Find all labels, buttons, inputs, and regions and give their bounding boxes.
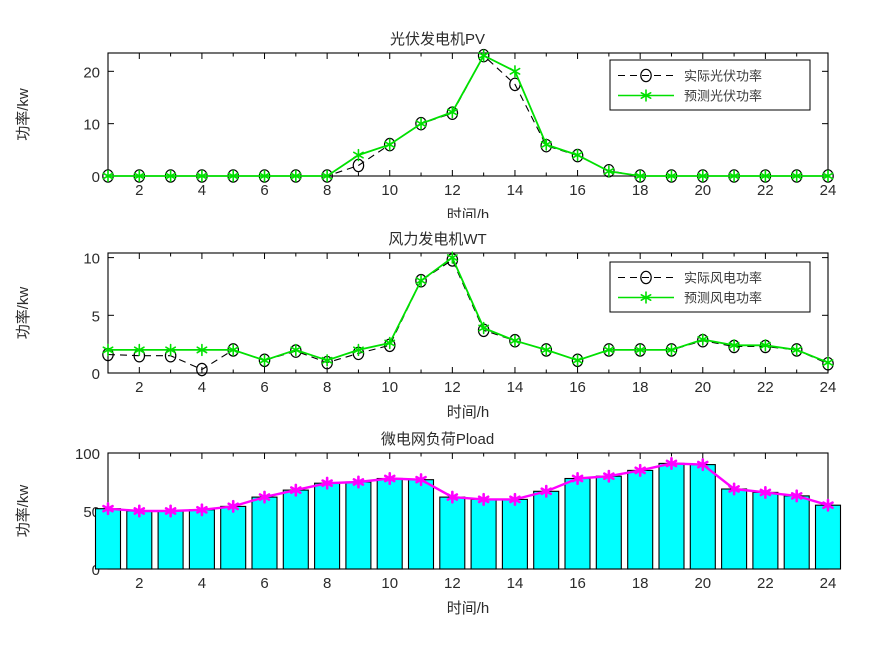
load-ylabel: 功率/kw bbox=[15, 485, 32, 538]
load-bar bbox=[377, 479, 402, 570]
wt-legend-actual-label: 实际风电功率 bbox=[684, 271, 762, 286]
x-tick-label: 10 bbox=[381, 379, 398, 396]
load-bar bbox=[409, 480, 434, 569]
load-bar bbox=[96, 509, 121, 569]
chart-panel-wt: 风力发电机WT 246810121416182022240510时间/h功率/k… bbox=[0, 218, 875, 423]
x-tick-label: 20 bbox=[694, 182, 711, 199]
x-tick-label: 24 bbox=[820, 182, 837, 199]
y-tick-label: 20 bbox=[83, 64, 100, 81]
load-bar bbox=[628, 470, 653, 569]
marker-asterisk bbox=[385, 139, 394, 150]
load-bar bbox=[784, 496, 809, 569]
x-tick-label: 2 bbox=[135, 575, 143, 592]
pv-xlabel: 时间/h bbox=[447, 207, 490, 218]
x-tick-label: 14 bbox=[507, 379, 524, 396]
x-tick-label: 4 bbox=[198, 575, 206, 592]
marker-asterisk bbox=[573, 355, 582, 366]
load-bar bbox=[471, 499, 496, 569]
x-tick-label: 6 bbox=[260, 379, 268, 396]
wt-ylabel: 功率/kw bbox=[15, 287, 32, 340]
x-tick-label: 12 bbox=[444, 182, 461, 199]
x-tick-label: 24 bbox=[820, 575, 837, 592]
marker-asterisk bbox=[260, 355, 269, 366]
load-bar bbox=[346, 482, 371, 569]
x-tick-label: 4 bbox=[198, 182, 206, 199]
load-axis-box bbox=[108, 453, 828, 569]
load-xlabel: 时间/h bbox=[447, 600, 490, 617]
x-tick-label: 18 bbox=[632, 379, 649, 396]
load-bar bbox=[440, 497, 465, 569]
load-bar bbox=[189, 510, 214, 569]
x-tick-label: 22 bbox=[757, 379, 774, 396]
load-bar bbox=[596, 476, 621, 569]
y-tick-label: 10 bbox=[83, 117, 100, 134]
x-tick-label: 14 bbox=[507, 182, 524, 199]
pv-ylabel: 功率/kw bbox=[15, 88, 32, 141]
y-tick-label: 0 bbox=[92, 366, 100, 383]
x-tick-label: 16 bbox=[569, 379, 586, 396]
x-tick-label: 6 bbox=[260, 575, 268, 592]
pv-legend[interactable]: 实际光伏功率预测光伏功率 bbox=[610, 60, 810, 110]
x-tick-label: 20 bbox=[694, 379, 711, 396]
x-tick-label: 22 bbox=[757, 575, 774, 592]
marker-asterisk bbox=[448, 252, 457, 263]
x-tick-label: 12 bbox=[444, 575, 461, 592]
x-tick-label: 18 bbox=[632, 575, 649, 592]
x-tick-label: 22 bbox=[757, 182, 774, 199]
y-tick-label: 100 bbox=[75, 446, 100, 463]
marker-asterisk bbox=[510, 66, 519, 77]
y-tick-label: 5 bbox=[92, 308, 100, 325]
marker-asterisk bbox=[416, 118, 425, 129]
x-tick-label: 14 bbox=[507, 575, 524, 592]
load-bar bbox=[283, 490, 308, 569]
marker-asterisk bbox=[542, 345, 551, 356]
marker-asterisk bbox=[416, 275, 425, 286]
chart-panel-pv: 光伏发电机PV 2468101214161820222401020时间/h功率/… bbox=[0, 0, 875, 218]
x-tick-label: 2 bbox=[135, 182, 143, 199]
x-tick-label: 20 bbox=[694, 575, 711, 592]
load-bars bbox=[96, 463, 841, 569]
x-tick-label: 2 bbox=[135, 379, 143, 396]
x-tick-label: 10 bbox=[381, 575, 398, 592]
marker-asterisk bbox=[354, 150, 363, 161]
pv-legend-actual-label: 实际光伏功率 bbox=[684, 69, 762, 84]
x-tick-label: 10 bbox=[381, 182, 398, 199]
load-bar bbox=[816, 505, 841, 569]
load-bar bbox=[722, 489, 747, 569]
load-bar bbox=[252, 497, 277, 569]
x-tick-label: 8 bbox=[323, 379, 331, 396]
load-bar bbox=[158, 511, 183, 569]
wt-legend[interactable]: 实际风电功率预测风电功率 bbox=[610, 262, 810, 312]
wt-xlabel: 时间/h bbox=[447, 404, 490, 421]
wt-plot-area: 246810121416182022240510时间/h功率/kw实际风电功率预… bbox=[0, 218, 875, 423]
x-tick-label: 4 bbox=[198, 379, 206, 396]
marker-asterisk bbox=[510, 335, 519, 346]
load-bar bbox=[690, 465, 715, 569]
y-tick-label: 0 bbox=[92, 169, 100, 186]
x-tick-label: 16 bbox=[569, 182, 586, 199]
chart-panel-load: 微电网负荷Pload 24681012141618202224050100时间/… bbox=[0, 423, 875, 656]
load-bar bbox=[127, 511, 152, 569]
load-bar bbox=[565, 479, 590, 570]
marker-asterisk bbox=[479, 323, 488, 334]
x-tick-label: 8 bbox=[323, 575, 331, 592]
x-tick-label: 16 bbox=[569, 575, 586, 592]
load-plot-area: 24681012141618202224050100时间/h功率/kw bbox=[0, 423, 875, 656]
x-tick-label: 8 bbox=[323, 182, 331, 199]
marker-asterisk bbox=[322, 355, 331, 366]
load-bar bbox=[659, 463, 684, 569]
load-bar bbox=[534, 491, 559, 569]
x-tick-label: 18 bbox=[632, 182, 649, 199]
marker-asterisk bbox=[479, 50, 488, 61]
pv-legend-forecast-label: 预测光伏功率 bbox=[684, 89, 762, 104]
pv-plot-area: 2468101214161820222401020时间/h功率/kw实际光伏功率… bbox=[0, 0, 875, 218]
wt-legend-forecast-label: 预测风电功率 bbox=[684, 291, 762, 306]
x-tick-label: 12 bbox=[444, 379, 461, 396]
y-tick-label: 10 bbox=[83, 251, 100, 268]
load-bar bbox=[502, 499, 527, 569]
load-bar bbox=[753, 492, 778, 569]
matlab-figure-window: 光伏发电机PV 2468101214161820222401020时间/h功率/… bbox=[0, 0, 875, 656]
load-overlay-line bbox=[108, 463, 828, 511]
x-tick-label: 24 bbox=[820, 379, 837, 396]
x-tick-label: 6 bbox=[260, 182, 268, 199]
load-bar bbox=[315, 483, 340, 569]
load-bar bbox=[221, 506, 246, 569]
